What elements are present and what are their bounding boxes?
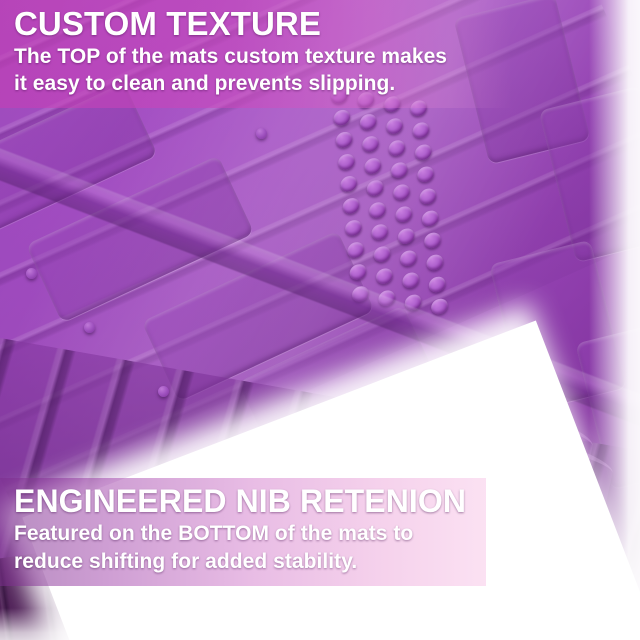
- bottom-headline: ENGINEERED NIB RETENION: [14, 482, 486, 520]
- top-subline-2: it easy to clean and prevents slipping.: [14, 70, 512, 97]
- background-bottom-fade: [0, 608, 640, 640]
- bottom-subline-1: Featured on the BOTTOM of the mats to: [14, 520, 486, 548]
- mat-bump: [26, 268, 37, 279]
- mat-bump: [158, 386, 169, 397]
- background-right-fade: [589, 0, 640, 640]
- top-callout-banner: CUSTOM TEXTURE The TOP of the mats custo…: [0, 0, 512, 108]
- top-headline: CUSTOM TEXTURE: [14, 4, 512, 43]
- bottom-callout-banner: ENGINEERED NIB RETENION Featured on the …: [0, 478, 486, 586]
- product-feature-image: CUSTOM TEXTURE The TOP of the mats custo…: [0, 0, 640, 640]
- mat-bump: [256, 128, 267, 139]
- mat-bump: [84, 322, 95, 333]
- top-subline-1: The TOP of the mats custom texture makes: [14, 43, 512, 70]
- bottom-subline-2: reduce shifting for added stability.: [14, 548, 486, 576]
